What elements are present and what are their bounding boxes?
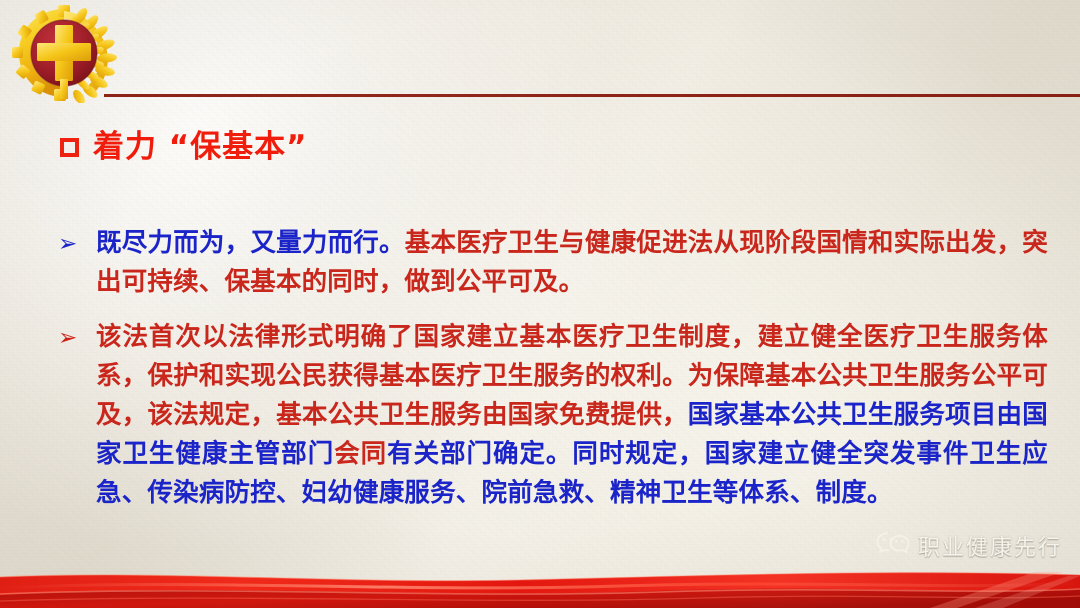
page-title-text: 着力 “保基本” xyxy=(93,132,308,163)
paragraph-text: 既尽力而为，又量力而行。基本医疗卫生与健康促进法从现阶段国情和实际出发，突出可持… xyxy=(96,224,1048,302)
arrow-bullet-icon: ➢ xyxy=(58,224,96,263)
header-divider-rule xyxy=(104,94,1080,97)
slide-canvas: 着力 “保基本” ➢ 既尽力而为，又量力而行。基本医疗卫生与健康促进法从现阶段国… xyxy=(0,0,1080,608)
wechat-icon xyxy=(875,530,909,562)
paragraph-text: 该法首次以法律形式明确了国家建立基本医疗卫生制度，建立健全医疗卫生服务体系，保护… xyxy=(96,318,1048,513)
text-run-highlight: 会同 xyxy=(334,439,387,469)
page-title: 着力 “保基本” xyxy=(60,132,308,163)
watermark: 职业健康先行 xyxy=(875,530,1062,562)
bottom-ribbon-decoration xyxy=(0,568,1080,608)
bullet-paragraph: ➢ 既尽力而为，又量力而行。基本医疗卫生与健康促进法从现阶段国情和实际出发，突出… xyxy=(58,224,1048,302)
text-run: 既尽力而为，又量力而行。 xyxy=(96,228,405,258)
emblem-stem xyxy=(60,79,68,99)
square-bullet-icon xyxy=(60,138,79,157)
slide-body: ➢ 既尽力而为，又量力而行。基本医疗卫生与健康促进法从现阶段国情和实际出发，突出… xyxy=(58,224,1048,529)
health-emblem-logo xyxy=(6,3,122,103)
watermark-text: 职业健康先行 xyxy=(918,530,1062,562)
arrow-bullet-icon: ➢ xyxy=(58,318,96,357)
bullet-paragraph: ➢ 该法首次以法律形式明确了国家建立基本医疗卫生制度，建立健全医疗卫生服务体系，… xyxy=(58,318,1048,513)
